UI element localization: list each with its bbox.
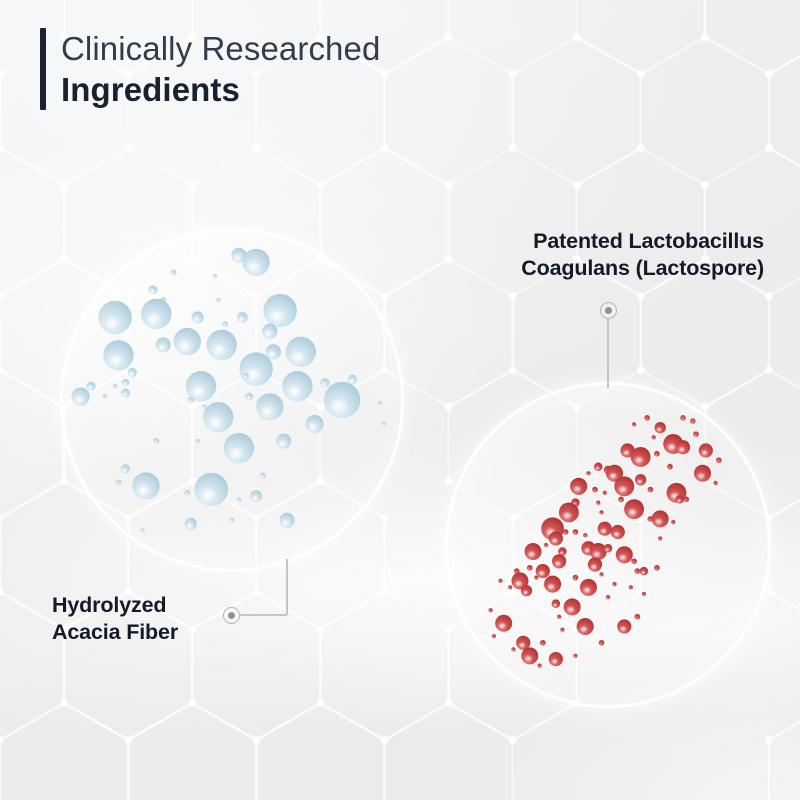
label-line-1: Patented Lactobacillus (521, 228, 764, 255)
label-line-1: Hydrolyzed (52, 592, 178, 619)
callout-marker-acacia[interactable] (223, 607, 240, 624)
title-accent-bar (40, 28, 46, 110)
callout-line-acacia-horizontal (240, 614, 287, 615)
label-line-2: Coagulans (Lactospore) (521, 255, 764, 282)
callout-line-lactospore-vertical (607, 319, 608, 388)
infographic-canvas: Clinically Researched Ingredients Hydrol… (0, 0, 800, 800)
ingredient-label-hydrolyzed-acacia-fiber: Hydrolyzed Acacia Fiber (52, 592, 178, 645)
ingredient-label-patented-lactobacillus-coagulans-lactospore: Patented Lactobacillus Coagulans (Lactos… (521, 228, 764, 281)
title-line-2: Ingredients (61, 69, 380, 110)
ingredient-circle-patented-lactobacillus-coagulans-lactospore[interactable] (445, 382, 771, 708)
label-line-2: Acacia Fiber (52, 619, 178, 646)
callout-line-acacia-vertical (286, 559, 287, 615)
ingredient-circle-hydrolyzed-acacia-fiber[interactable] (60, 228, 404, 572)
callout-marker-lactospore[interactable] (600, 302, 617, 319)
page-title: Clinically Researched Ingredients (40, 28, 380, 110)
circle-ring-border (60, 228, 404, 572)
title-line-1: Clinically Researched (61, 28, 380, 69)
circle-ring-border (445, 382, 771, 708)
